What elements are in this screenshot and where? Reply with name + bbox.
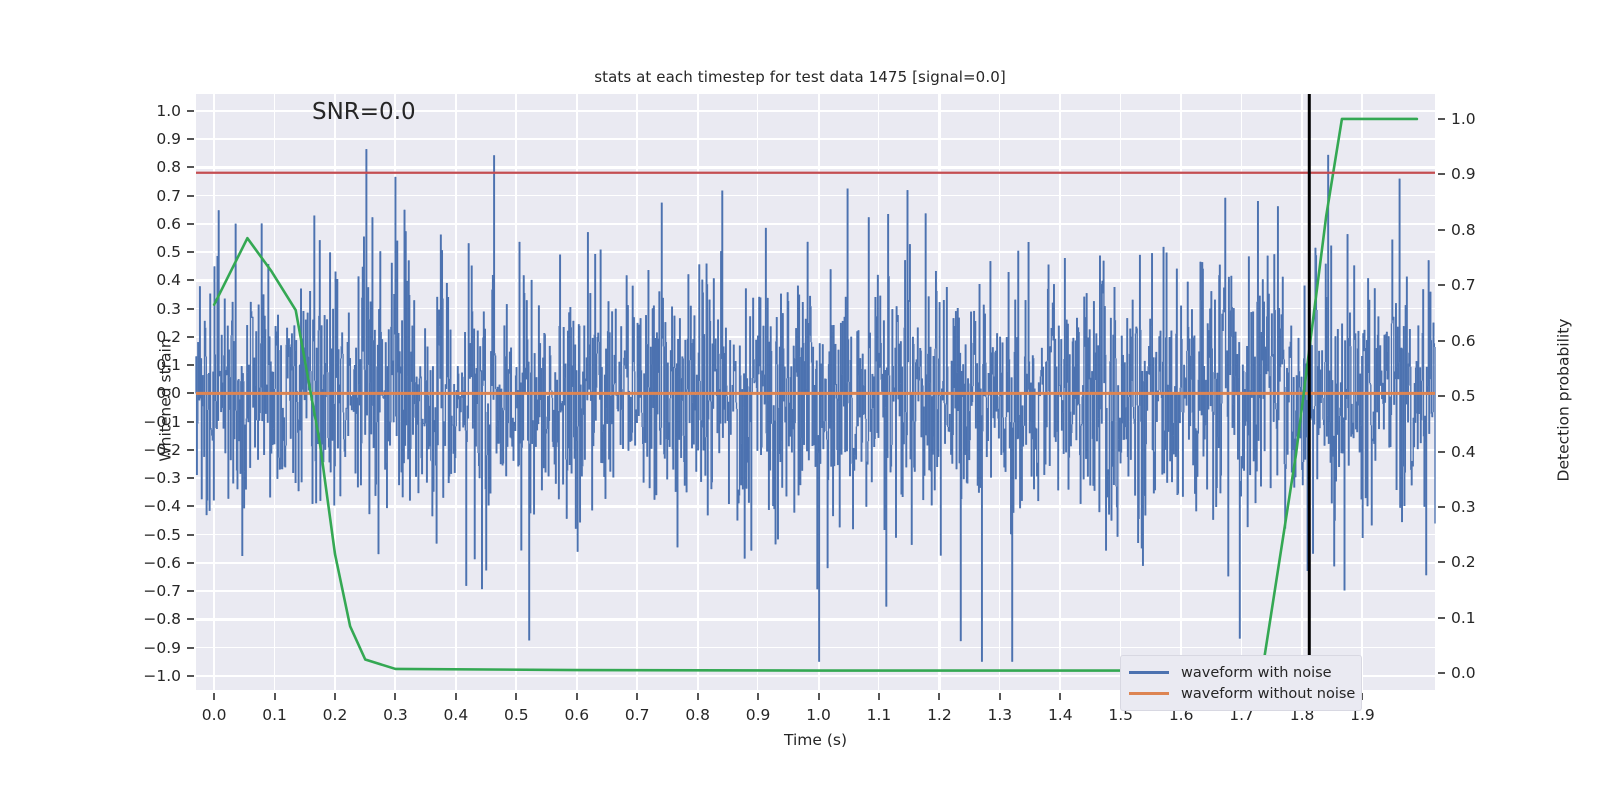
y-tick-mark xyxy=(187,166,194,168)
x-tick-label: 1.3 xyxy=(988,706,1013,724)
y-tick-label-right: 0.7 xyxy=(1451,276,1476,294)
x-tick-mark xyxy=(999,693,1001,700)
y-tick-mark xyxy=(187,505,194,507)
x-tick-label: 0.5 xyxy=(504,706,529,724)
y-tick-label-right: 1.0 xyxy=(1451,110,1476,128)
y-tick-label: −0.8 xyxy=(86,610,181,628)
y-tick-label: 1.0 xyxy=(86,102,181,120)
y-tick-mark xyxy=(187,562,194,564)
y-tick-mark xyxy=(187,421,194,423)
x-tick-label: 0.0 xyxy=(202,706,227,724)
y-tick-mark xyxy=(187,223,194,225)
x-tick-label: 0.8 xyxy=(685,706,710,724)
y-tick-label-right: 0.6 xyxy=(1451,332,1476,350)
x-tick-label: 0.4 xyxy=(444,706,469,724)
y-tick-label: −0.5 xyxy=(86,526,181,544)
y-tick-mark xyxy=(187,195,194,197)
y-tick-label-right: 0.2 xyxy=(1451,553,1476,571)
x-tick-label: 1.2 xyxy=(927,706,952,724)
x-tick-mark xyxy=(878,693,880,700)
waveform-with-noise-series xyxy=(196,149,1435,662)
y-tick-mark xyxy=(187,534,194,536)
legend-item-label: waveform with noise xyxy=(1181,665,1332,681)
y-tick-mark xyxy=(187,477,194,479)
x-tick-mark xyxy=(697,693,699,700)
y-tick-mark-right xyxy=(1438,284,1445,286)
x-tick-label: 0.6 xyxy=(564,706,589,724)
y-tick-label-right: 0.5 xyxy=(1451,387,1476,405)
y-axis-right-label: Detection probability xyxy=(1554,319,1572,482)
chart-figure: stats at each timestep for test data 147… xyxy=(0,0,1600,800)
legend-color-swatch xyxy=(1129,671,1169,674)
x-tick-mark xyxy=(213,693,215,700)
y-tick-mark-right xyxy=(1438,617,1445,619)
y-tick-mark xyxy=(187,336,194,338)
y-tick-label: 0.6 xyxy=(86,215,181,233)
x-tick-mark xyxy=(757,693,759,700)
y-tick-label-right: 0.3 xyxy=(1451,498,1476,516)
legend-color-swatch xyxy=(1129,692,1169,695)
y-tick-label: 0.3 xyxy=(86,300,181,318)
series-layer xyxy=(196,94,1435,690)
y-tick-label: 0.9 xyxy=(86,130,181,148)
chart-title: stats at each timestep for test data 147… xyxy=(0,68,1600,86)
x-tick-label: 1.0 xyxy=(806,706,831,724)
y-tick-mark xyxy=(187,110,194,112)
y-tick-label: 0.7 xyxy=(86,187,181,205)
x-tick-mark xyxy=(334,693,336,700)
y-tick-mark-right xyxy=(1438,118,1445,120)
x-tick-mark xyxy=(636,693,638,700)
y-tick-label: −0.3 xyxy=(86,469,181,487)
y-tick-mark xyxy=(187,647,194,649)
y-tick-mark-right xyxy=(1438,173,1445,175)
x-tick-label: 1.1 xyxy=(867,706,892,724)
y-tick-mark-right xyxy=(1438,451,1445,453)
y-tick-label-right: 0.4 xyxy=(1451,443,1476,461)
x-tick-mark xyxy=(938,693,940,700)
y-tick-mark xyxy=(187,138,194,140)
y-tick-mark xyxy=(187,590,194,592)
y-tick-mark xyxy=(187,675,194,677)
legend-item[interactable]: waveform with noise xyxy=(1129,662,1353,683)
y-tick-label: −1.0 xyxy=(86,667,181,685)
y-tick-mark-right xyxy=(1438,395,1445,397)
y-tick-label: 0.4 xyxy=(86,271,181,289)
x-axis-label: Time (s) xyxy=(196,731,1435,749)
y-tick-mark-right xyxy=(1438,506,1445,508)
y-tick-mark-right xyxy=(1438,561,1445,563)
y-tick-mark-right xyxy=(1438,672,1445,674)
y-tick-mark xyxy=(187,449,194,451)
y-tick-mark-right xyxy=(1438,340,1445,342)
y-tick-label: 0.5 xyxy=(86,243,181,261)
y-tick-label: −0.4 xyxy=(86,497,181,515)
y-tick-label-right: 0.8 xyxy=(1451,221,1476,239)
x-tick-mark xyxy=(515,693,517,700)
x-tick-label: 0.1 xyxy=(262,706,287,724)
x-tick-mark xyxy=(818,693,820,700)
y-tick-label-right: 0.1 xyxy=(1451,609,1476,627)
y-tick-label-right: 0.9 xyxy=(1451,165,1476,183)
x-tick-label: 0.9 xyxy=(746,706,771,724)
x-tick-mark xyxy=(394,693,396,700)
y-tick-label: −0.9 xyxy=(86,639,181,657)
plot-area xyxy=(196,94,1435,690)
x-tick-label: 0.2 xyxy=(323,706,348,724)
x-tick-mark xyxy=(576,693,578,700)
y-tick-mark xyxy=(187,618,194,620)
y-axis-left-label: Whitened strain xyxy=(157,338,175,461)
y-tick-mark xyxy=(187,308,194,310)
snr-annotation: SNR=0.0 xyxy=(312,99,416,125)
y-tick-mark xyxy=(187,364,194,366)
x-tick-label: 0.7 xyxy=(625,706,650,724)
x-tick-label: 0.3 xyxy=(383,706,408,724)
y-tick-label: 0.8 xyxy=(86,158,181,176)
y-tick-mark xyxy=(187,279,194,281)
x-tick-label: 1.4 xyxy=(1048,706,1073,724)
x-tick-mark xyxy=(274,693,276,700)
y-tick-mark-right xyxy=(1438,229,1445,231)
y-tick-label: −0.6 xyxy=(86,554,181,572)
legend-item[interactable]: waveform without noise xyxy=(1129,683,1353,704)
legend-item-label: waveform without noise xyxy=(1181,686,1355,702)
y-tick-label: −0.7 xyxy=(86,582,181,600)
x-tick-mark xyxy=(455,693,457,700)
x-tick-mark xyxy=(1059,693,1061,700)
y-tick-label-right: 0.0 xyxy=(1451,664,1476,682)
chart-legend[interactable]: waveform with noisewaveform without nois… xyxy=(1120,655,1362,711)
y-tick-mark xyxy=(187,392,194,394)
y-tick-mark xyxy=(187,251,194,253)
